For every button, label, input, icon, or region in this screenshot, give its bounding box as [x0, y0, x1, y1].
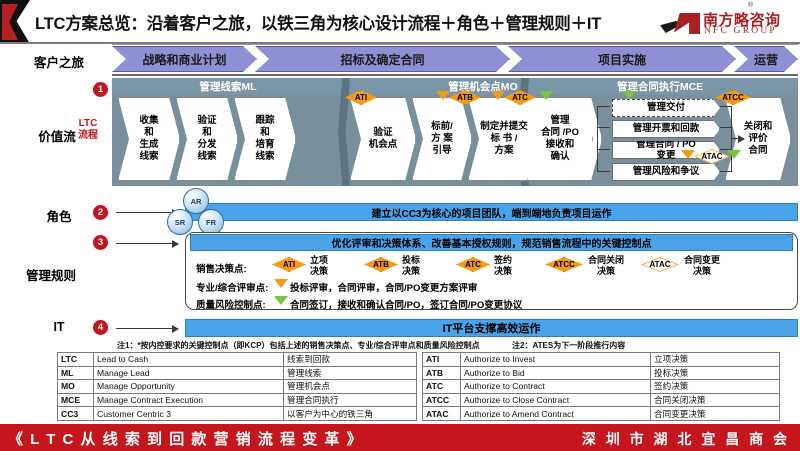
glossary-left-3-cn: 管理合同执行: [284, 393, 417, 407]
legend-marker-atb-label: ATB: [373, 260, 389, 269]
legend-marker-ati-label: ATI: [283, 260, 295, 269]
glossary-right-3-abbr: ATCC: [423, 393, 461, 407]
glossary-left-0-abbr: LTC: [58, 353, 94, 367]
vs-step-2-label: 跟踪和培育线索: [255, 115, 274, 163]
legend-marker-atcc-label: ATCC: [553, 260, 575, 269]
glossary-right-0-abbr: ATI: [423, 353, 461, 367]
brace-in-mid2: [597, 149, 610, 150]
table-row: ATBAuthorize to Bid投标决策: [423, 366, 780, 380]
footer-right-title: 深 圳 市 湖 北 宜 昌 商 会: [582, 429, 790, 449]
vs-step-3-label: 验证机会点: [369, 127, 398, 151]
footnote-1: 注1：*按内控要求的关键控制点（即KCP）包括上述的销售决策点、专业/综合评审点…: [117, 340, 480, 351]
vs-step-1-label: 验证和分发线索: [197, 115, 216, 163]
legend-text-atac-l2: 决策: [693, 266, 711, 276]
glossary-left-2-cn: 管理机会点: [284, 380, 417, 394]
legend-text-atcc: 合同关闭 决策: [588, 255, 624, 278]
vs-mce-sub-3[interactable]: 管理风险和争议: [612, 163, 720, 181]
it-connector-arrow-icon: [116, 328, 178, 329]
legend-text-atac-l1: 合同变更: [684, 255, 720, 265]
legend-text-atcc-l1: 合同关闭: [588, 255, 624, 265]
footer-left-title: 《 L T C 从 线 索 到 回 款 营 销 流 程 变 革 》: [8, 428, 363, 449]
legend-text-ati-l2: 决策: [310, 266, 328, 276]
logo-mark-icon: [660, 13, 700, 34]
table-row: ATCAuthorize to Contract签约决策: [423, 380, 780, 394]
vs-mce-sub-3-label: 管理风险和争议: [633, 166, 700, 177]
glossary-left-1-abbr: ML: [58, 366, 94, 380]
vs-step-7-label: 管理合同 /PO接收和确认: [541, 115, 579, 163]
vs-group-mo-label: 管理机会点MO: [448, 79, 517, 94]
legend-triangle-quality-icon: [274, 296, 288, 305]
rules-row1-label: 销售决策点:: [196, 261, 247, 275]
vs-mce-sub-1[interactable]: 管理开票和回款: [612, 120, 720, 138]
legend-text-atb-l1: 投标: [402, 255, 420, 265]
vs-marker-atb-label: ATB: [457, 93, 473, 102]
table-row: MCEManage Contract Execution管理合同执行: [58, 393, 417, 407]
legend-text-atb-l2: 决策: [402, 266, 420, 276]
journey-stage-1[interactable]: 招标及确定合同: [255, 46, 510, 72]
slide-footer: 《 L T C 从 线 索 到 回 款 营 销 流 程 变 革 》 深 圳 市 …: [0, 424, 800, 451]
glossary-right-2-en: Authorize to Contract: [461, 380, 651, 394]
journey-stage-3-label: 运营: [754, 51, 778, 68]
glossary-right-1-abbr: ATB: [423, 366, 461, 380]
glossary-right-1-cn: 投标决策: [651, 366, 780, 380]
glossary-left-4-cn: 以客户为中心的铁三角: [284, 407, 417, 421]
rules-row3-label: 质量风险控制点:: [196, 297, 266, 311]
rail-label-customer-journey: 客户之旅: [20, 52, 98, 71]
vs-group-ml: 管理线索ML: [112, 78, 344, 95]
roles-banner-label: 建立以CC3为核心的项目团队，端到端地负责项目运作: [371, 205, 611, 220]
brace-out-mid1: [720, 127, 732, 128]
vs-mce-sub-0-label: 管理交付: [647, 102, 685, 113]
rail-label-ltc-process: LTC 流程: [72, 118, 104, 141]
it-banner[interactable]: IT平台支撑高效运作: [185, 319, 798, 337]
glossary-left-4-abbr: CC3: [58, 407, 94, 421]
journey-stage-0-label: 战略和商业计划: [142, 51, 226, 68]
journey-stage-3[interactable]: 运营: [734, 46, 798, 72]
glossary-right-4-cn: 合同变更决策: [651, 407, 780, 421]
vs-mce-sub-2-line1: 管理合同 / PO: [636, 139, 696, 150]
vs-step-3[interactable]: 验证机会点: [350, 97, 416, 181]
brace-in-bot: [597, 171, 610, 172]
mgmt-rules-banner-label: 优化评审和决策体系、改善基本授权规则，规范销售流程中的关键控制点: [332, 235, 652, 250]
vs-group-ml-label: 管理线索ML: [199, 79, 256, 94]
rules-review-text: 投标评审，合同评审，合同/PO变更方案评审: [290, 280, 477, 294]
vs-triangle-review-atc-icon: [491, 91, 505, 100]
legend-marker-atc-label: ATC: [465, 260, 481, 269]
glossary-right-body: ATIAuthorize to Invest立项决策 ATBAuthorize …: [423, 353, 780, 421]
vs-step-1[interactable]: 验证和分发线索: [176, 97, 238, 181]
vs-step-4-label: 标前/方 案引导: [431, 121, 453, 157]
journey-stage-1-label: 招标及确定合同: [340, 51, 424, 68]
glossary-table-left: LTCLead to Cash线索到回款 MLManage Lead管理线索 M…: [57, 352, 417, 421]
legend-text-atb: 投标 决策: [402, 255, 420, 278]
step-badge-2: 2: [93, 205, 108, 220]
glossary-left-0-en: Lead to Cash: [94, 353, 284, 367]
step-badge-1: 1: [93, 82, 108, 97]
glossary-left-0-cn: 线索到回款: [284, 353, 417, 367]
glossary-left-1-cn: 管理线索: [284, 366, 417, 380]
glossary-right-2-cn: 签约决策: [651, 380, 780, 394]
glossary-right-4-en: Authorize to Amend Contract: [461, 407, 651, 421]
vs-triangle-quality-contract-icon: [539, 91, 553, 100]
vs-step-0[interactable]: 收集和生成线索: [118, 97, 180, 181]
rail-label-mgmt-rules: 管理规则: [12, 265, 90, 284]
company-logo: ® 南方略咨询 NFC GROUP: [660, 4, 794, 42]
vs-mce-sub-2-line2: 变更: [656, 150, 675, 161]
table-row: MOManage Opportunity管理机会点: [58, 380, 417, 394]
glossary-left-1-en: Manage Lead: [94, 366, 284, 380]
logo-company-name-en: NFC GROUP: [704, 26, 777, 36]
it-banner-label: IT平台支撑高效运作: [443, 320, 541, 336]
ltc-process-line1: LTC: [72, 118, 104, 130]
table-row: ATACAuthorize to Amend Contract合同变更决策: [423, 407, 780, 421]
vs-step-5[interactable]: 制定并提交标 书 /方案: [468, 97, 540, 181]
step-badge-4: 4: [93, 320, 108, 335]
slide-root: LTC方案总览：沿着客户之旅，以铁三角为核心设计流程＋角色＋管理规则＋IT ® …: [0, 0, 800, 451]
glossary-right-3-en: Authorize to Close Contract: [461, 393, 651, 407]
legend-triangle-review-icon: [274, 279, 288, 288]
vs-triangle-review-atac-icon: [681, 150, 695, 159]
rail-label-roles: 角色: [20, 206, 98, 225]
roles-banner[interactable]: 建立以CC3为核心的项目团队，端到端地负责项目运作: [185, 203, 798, 221]
glossary-left-2-en: Manage Opportunity: [94, 380, 284, 394]
table-row: CC3Customer Centric 3以客户为中心的铁三角: [58, 407, 417, 421]
vs-marker-atc-label: ATC: [512, 93, 528, 102]
value-stream-band: 管理线索ML 管理机会点MO 管理合同执行MCE 收集和生成线索 验证和分发线索…: [112, 78, 798, 186]
legend-text-atc: 签约 决策: [494, 255, 512, 278]
page-title: LTC方案总览：沿着客户之旅，以铁三角为核心设计流程＋角色＋管理规则＋IT: [35, 10, 655, 34]
brace-out-arrow-icon: [731, 138, 744, 139]
journey-stage-2[interactable]: 项目实施: [508, 46, 736, 72]
legend-text-atcc-l2: 决策: [597, 266, 615, 276]
brace-in-mid1: [597, 127, 610, 128]
mgmt-rules-banner[interactable]: 优化评审和决策体系、改善基本授权规则，规范销售流程中的关键控制点: [190, 234, 793, 251]
header-wedge-decoration: [0, 0, 30, 44]
journey-top-rule: [112, 44, 798, 45]
rail-label-it: IT: [20, 320, 98, 334]
role-circle-fr-label: FR: [206, 218, 216, 227]
step-badge-3: 3: [93, 235, 108, 250]
rules-quality-text: 合同签订，接收和确认合同/PO，签订合同/PO变更协议: [290, 297, 522, 311]
slide-header: LTC方案总览：沿着客户之旅，以铁三角为核心设计流程＋角色＋管理规则＋IT ® …: [0, 0, 800, 44]
brace-out-bot: [720, 171, 732, 172]
legend-text-ati: 立项 决策: [310, 255, 328, 278]
vs-marker-atac-label: ATAC: [701, 152, 722, 161]
registered-trademark-icon: ®: [748, 2, 753, 9]
rules-connector-arrow-icon: [116, 243, 178, 244]
vs-triangle-quality-atac-icon: [727, 150, 741, 159]
glossary-table-right: ATIAuthorize to Invest立项决策 ATBAuthorize …: [422, 352, 780, 421]
vs-step-0-label: 收集和生成线索: [139, 115, 158, 163]
glossary-right-0-en: Authorize to Invest: [461, 353, 651, 367]
role-circle-sr[interactable]: SR: [167, 209, 193, 235]
glossary-left-2-abbr: MO: [58, 380, 94, 394]
journey-stage-2-label: 项目实施: [598, 51, 646, 68]
vs-step-8-label: 关闭和评价合同: [744, 121, 773, 157]
legend-marker-atac-label: ATAC: [649, 260, 670, 269]
glossary-right-1-en: Authorize to Bid: [461, 366, 651, 380]
vs-step-2[interactable]: 跟踪和培育线索: [234, 97, 296, 181]
brace-in-spine: [597, 106, 598, 172]
vs-triangle-review-atb-icon: [436, 91, 450, 100]
glossary-right-4-abbr: ATAC: [423, 407, 461, 421]
glossary-right-0-cn: 立项决策: [651, 353, 780, 367]
vs-step-5-label: 制定并提交标 书 /方案: [480, 121, 528, 157]
legend-text-atc-l1: 签约: [494, 255, 512, 265]
vs-triangle-quality-po-icon: [622, 91, 636, 100]
glossary-right-2-abbr: ATC: [423, 380, 461, 394]
footnote-2: 注2：ATES为下一阶段推行内容: [512, 340, 625, 351]
role-circle-ar-label: AR: [191, 197, 202, 206]
glossary-left-3-abbr: MCE: [58, 393, 94, 407]
glossary-left-body: LTCLead to Cash线索到回款 MLManage Lead管理线索 M…: [58, 353, 417, 421]
vs-group-mce: 管理合同执行MCE: [522, 78, 798, 95]
vs-mce-sub-0[interactable]: 管理交付: [612, 99, 720, 117]
brace-in-top: [597, 106, 610, 107]
table-row: ATIAuthorize to Invest立项决策: [423, 353, 780, 367]
glossary-right-3-cn: 合同关闭决策: [651, 393, 780, 407]
ltc-process-line2: 流程: [72, 130, 104, 142]
legend-text-atc-l2: 决策: [494, 266, 512, 276]
glossary-left-3-en: Manage Contract Execution: [94, 393, 284, 407]
table-row: LTCLead to Cash线索到回款: [58, 353, 417, 367]
journey-bottom-rule: [112, 74, 798, 76]
vs-marker-atcc-label: ATCC: [722, 93, 744, 102]
vs-step-4[interactable]: 标前/方 案引导: [412, 97, 472, 181]
table-row: MLManage Lead管理线索: [58, 366, 417, 380]
vs-mce-sub-1-label: 管理开票和回款: [633, 123, 700, 134]
table-row: ATCCAuthorize to Close Contract合同关闭决策: [423, 393, 780, 407]
journey-stage-0[interactable]: 战略和商业计划: [112, 46, 257, 72]
legend-text-atac: 合同变更 决策: [684, 255, 720, 278]
vs-marker-ati-label: ATI: [355, 93, 367, 102]
glossary-left-4-en: Customer Centric 3: [94, 407, 284, 421]
legend-text-ati-l1: 立项: [310, 255, 328, 265]
rules-row2-label: 专业/综合评审点:: [196, 280, 268, 294]
role-circle-sr-label: SR: [175, 218, 185, 227]
